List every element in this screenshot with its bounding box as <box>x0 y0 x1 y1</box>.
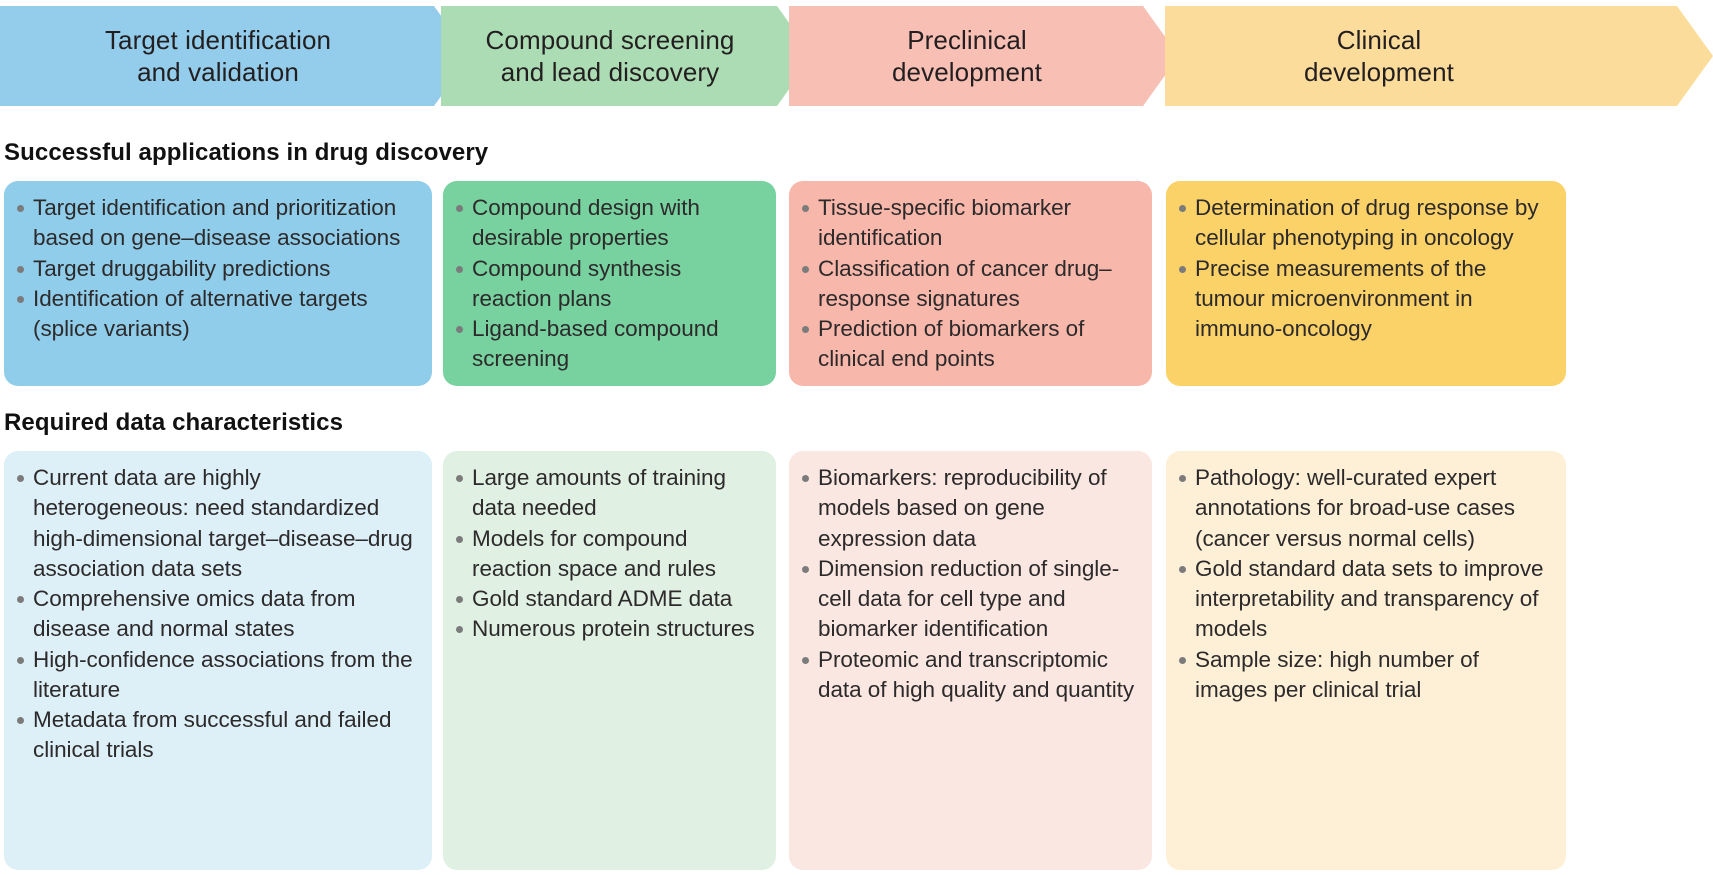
application-card-preclinical: Tissue-specific biomarker identification… <box>789 181 1152 386</box>
list-item: Proteomic and transcriptomic data of hig… <box>799 645 1138 706</box>
list-item: Comprehensive omics data from disease an… <box>14 584 418 645</box>
list-item: Metadata from successful and failed clin… <box>14 705 418 766</box>
figure-root: Target identificationand validation Comp… <box>0 0 1713 875</box>
section-heading-data-characteristics: Required data characteristics <box>4 409 343 437</box>
list-item: Ligand-based compound screening <box>453 314 762 375</box>
bullet-list: Large amounts of training data needed Mo… <box>453 463 762 645</box>
bullet-list: Current data are highly heterogeneous: n… <box>14 463 418 766</box>
pipeline-stage-label: Target identificationand validation <box>105 24 365 89</box>
list-item: Sample size: high number of images per c… <box>1176 645 1552 706</box>
list-item: Tissue-specific biomarker identification <box>799 193 1138 254</box>
bullet-list: Determination of drug response by cellul… <box>1176 193 1552 344</box>
application-card-compound-screening: Compound design with desirable propertie… <box>443 181 776 386</box>
bullet-list: Tissue-specific biomarker identification… <box>799 193 1138 375</box>
bullet-list: Pathology: well-curated expert annotatio… <box>1176 463 1552 705</box>
list-item: Large amounts of training data needed <box>453 463 762 524</box>
application-card-target-identification: Target identification and prioritization… <box>4 181 432 386</box>
section-heading-applications: Successful applications in drug discover… <box>4 139 488 167</box>
pipeline-stage-label: Compound screeningand lead discovery <box>486 24 769 89</box>
list-item: Target druggability predictions <box>14 254 418 284</box>
bullet-list: Biomarkers: reproducibility of models ba… <box>799 463 1138 705</box>
list-item: Precise measurements of the tumour micro… <box>1176 254 1552 345</box>
list-item: Pathology: well-curated expert annotatio… <box>1176 463 1552 554</box>
list-item: Biomarkers: reproducibility of models ba… <box>799 463 1138 554</box>
pipeline-stage-preclinical[interactable]: Preclinicaldevelopment <box>789 6 1179 106</box>
applications-card-row: Target identification and prioritization… <box>0 181 1713 386</box>
data-card-clinical: Pathology: well-curated expert annotatio… <box>1166 451 1566 870</box>
list-item: Determination of drug response by cellul… <box>1176 193 1552 254</box>
pipeline-stage-label: Preclinicaldevelopment <box>892 24 1076 89</box>
data-characteristics-card-row: Current data are highly heterogeneous: n… <box>0 451 1713 870</box>
list-item: Numerous protein structures <box>453 614 762 644</box>
list-item: Compound design with desirable propertie… <box>453 193 762 254</box>
list-item: Gold standard ADME data <box>453 584 762 614</box>
data-card-target-identification: Current data are highly heterogeneous: n… <box>4 451 432 870</box>
list-item: Gold standard data sets to improve inter… <box>1176 554 1552 645</box>
list-item: Models for compound reaction space and r… <box>453 524 762 585</box>
list-item: Compound synthesis reaction plans <box>453 254 762 315</box>
pipeline-stage-clinical[interactable]: Clinicaldevelopment <box>1165 6 1713 106</box>
data-card-preclinical: Biomarkers: reproducibility of models ba… <box>789 451 1152 870</box>
pipeline-stage-label: Clinicaldevelopment <box>1304 24 1574 89</box>
pipeline-stage-target-identification[interactable]: Target identificationand validation <box>0 6 470 106</box>
list-item: Dimension reduction of single-cell data … <box>799 554 1138 645</box>
pipeline-arrow-row: Target identificationand validation Comp… <box>0 0 1713 112</box>
list-item: High-confidence associations from the li… <box>14 645 418 706</box>
pipeline-stage-compound-screening[interactable]: Compound screeningand lead discovery <box>441 6 813 106</box>
list-item: Prediction of biomarkers of clinical end… <box>799 314 1138 375</box>
list-item: Identification of alternative targets (s… <box>14 284 418 345</box>
list-item: Current data are highly heterogeneous: n… <box>14 463 418 584</box>
list-item: Target identification and prioritization… <box>14 193 418 254</box>
list-item: Classification of cancer drug–response s… <box>799 254 1138 315</box>
application-card-clinical: Determination of drug response by cellul… <box>1166 181 1566 386</box>
bullet-list: Target identification and prioritization… <box>14 193 418 344</box>
data-card-compound-screening: Large amounts of training data needed Mo… <box>443 451 776 870</box>
bullet-list: Compound design with desirable propertie… <box>453 193 762 375</box>
